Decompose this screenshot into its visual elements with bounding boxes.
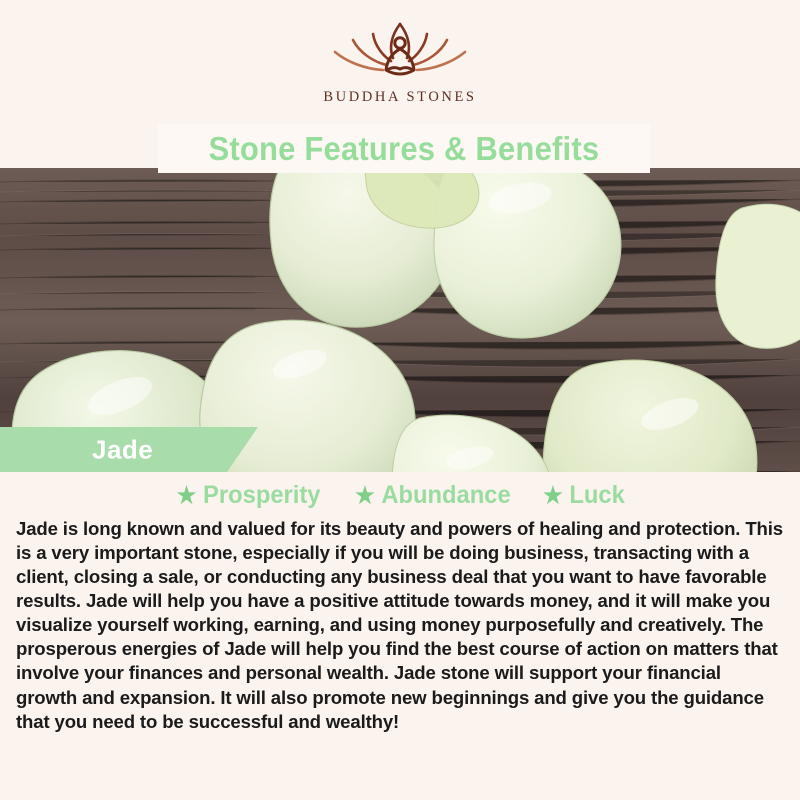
star-icon: ★: [177, 484, 197, 507]
benefit-label: Luck: [569, 481, 624, 510]
brand-name: BUDDHA STONES: [323, 89, 476, 106]
star-icon: ★: [355, 484, 375, 507]
star-icon: ★: [543, 484, 563, 507]
stone-name-label: Jade: [92, 434, 153, 465]
content-panel: ★ Prosperity ★ Abundance ★ Luck Jade is …: [0, 472, 800, 800]
stone-description: Jade is long known and valued for its be…: [16, 517, 784, 734]
benefit-item-prosperity: ★ Prosperity: [177, 481, 321, 510]
benefits-row: ★ Prosperity ★ Abundance ★ Luck: [16, 475, 784, 515]
brand-header: BUDDHA STONES: [0, 0, 800, 124]
page-title: Stone Features & Benefits: [209, 130, 600, 168]
stone-name-band: Jade: [0, 427, 258, 472]
lotus-meditation-icon: [325, 18, 475, 86]
benefit-label: Prosperity: [204, 481, 321, 510]
poster-root: BUDDHA STONES: [0, 0, 800, 800]
benefit-item-luck: ★ Luck: [543, 481, 625, 510]
section-title-banner: Stone Features & Benefits: [158, 124, 650, 173]
benefit-label: Abundance: [381, 481, 510, 510]
benefit-item-abundance: ★ Abundance: [355, 481, 511, 510]
